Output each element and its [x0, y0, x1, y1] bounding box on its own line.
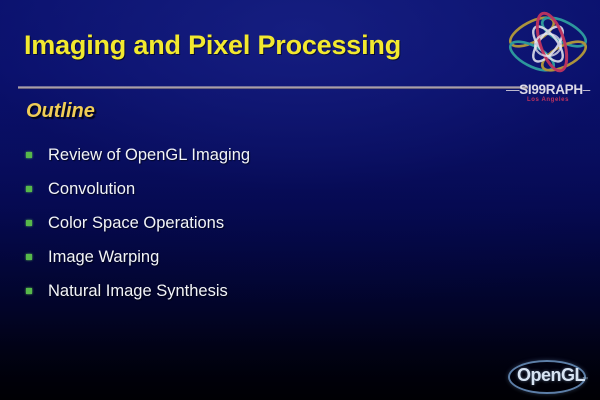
- list-item: Convolution: [26, 172, 476, 206]
- siggraph-subtitle: Los Angeles: [498, 97, 598, 103]
- title-divider: [18, 86, 528, 89]
- list-item: Natural Image Synthesis: [26, 274, 476, 308]
- outline-bullet-list: Review of OpenGL Imaging Convolution Col…: [26, 138, 476, 308]
- list-item-label: Review of OpenGL Imaging: [48, 146, 250, 165]
- opengl-logo: OpenGL ™: [508, 358, 594, 394]
- opengl-wordmark: OpenGL: [517, 365, 585, 386]
- siggraph-wordmark: —SI99RAPH–: [498, 82, 598, 97]
- section-heading: Outline: [26, 100, 95, 123]
- bullet-square-icon: [26, 288, 32, 294]
- bullet-square-icon: [26, 220, 32, 226]
- list-item-label: Convolution: [48, 180, 135, 199]
- list-item-label: Color Space Operations: [48, 214, 224, 233]
- wordmark-dash-left: —: [506, 82, 519, 97]
- bullet-square-icon: [26, 186, 32, 192]
- siggraph-rings-icon: [502, 8, 594, 82]
- wordmark-text: SI99RAPH: [519, 82, 583, 97]
- list-item: Color Space Operations: [26, 206, 476, 240]
- opengl-trademark: ™: [582, 377, 588, 383]
- presentation-slide: Imaging and Pixel Processing Outline Rev…: [0, 0, 600, 400]
- list-item: Image Warping: [26, 240, 476, 274]
- wordmark-dash-right: –: [583, 82, 590, 97]
- list-item-label: Natural Image Synthesis: [48, 282, 228, 301]
- bullet-square-icon: [26, 152, 32, 158]
- list-item-label: Image Warping: [48, 248, 159, 267]
- slide-title: Imaging and Pixel Processing: [24, 30, 401, 61]
- list-item: Review of OpenGL Imaging: [26, 138, 476, 172]
- bullet-square-icon: [26, 254, 32, 260]
- siggraph-logo: —SI99RAPH– Los Angeles: [498, 8, 598, 108]
